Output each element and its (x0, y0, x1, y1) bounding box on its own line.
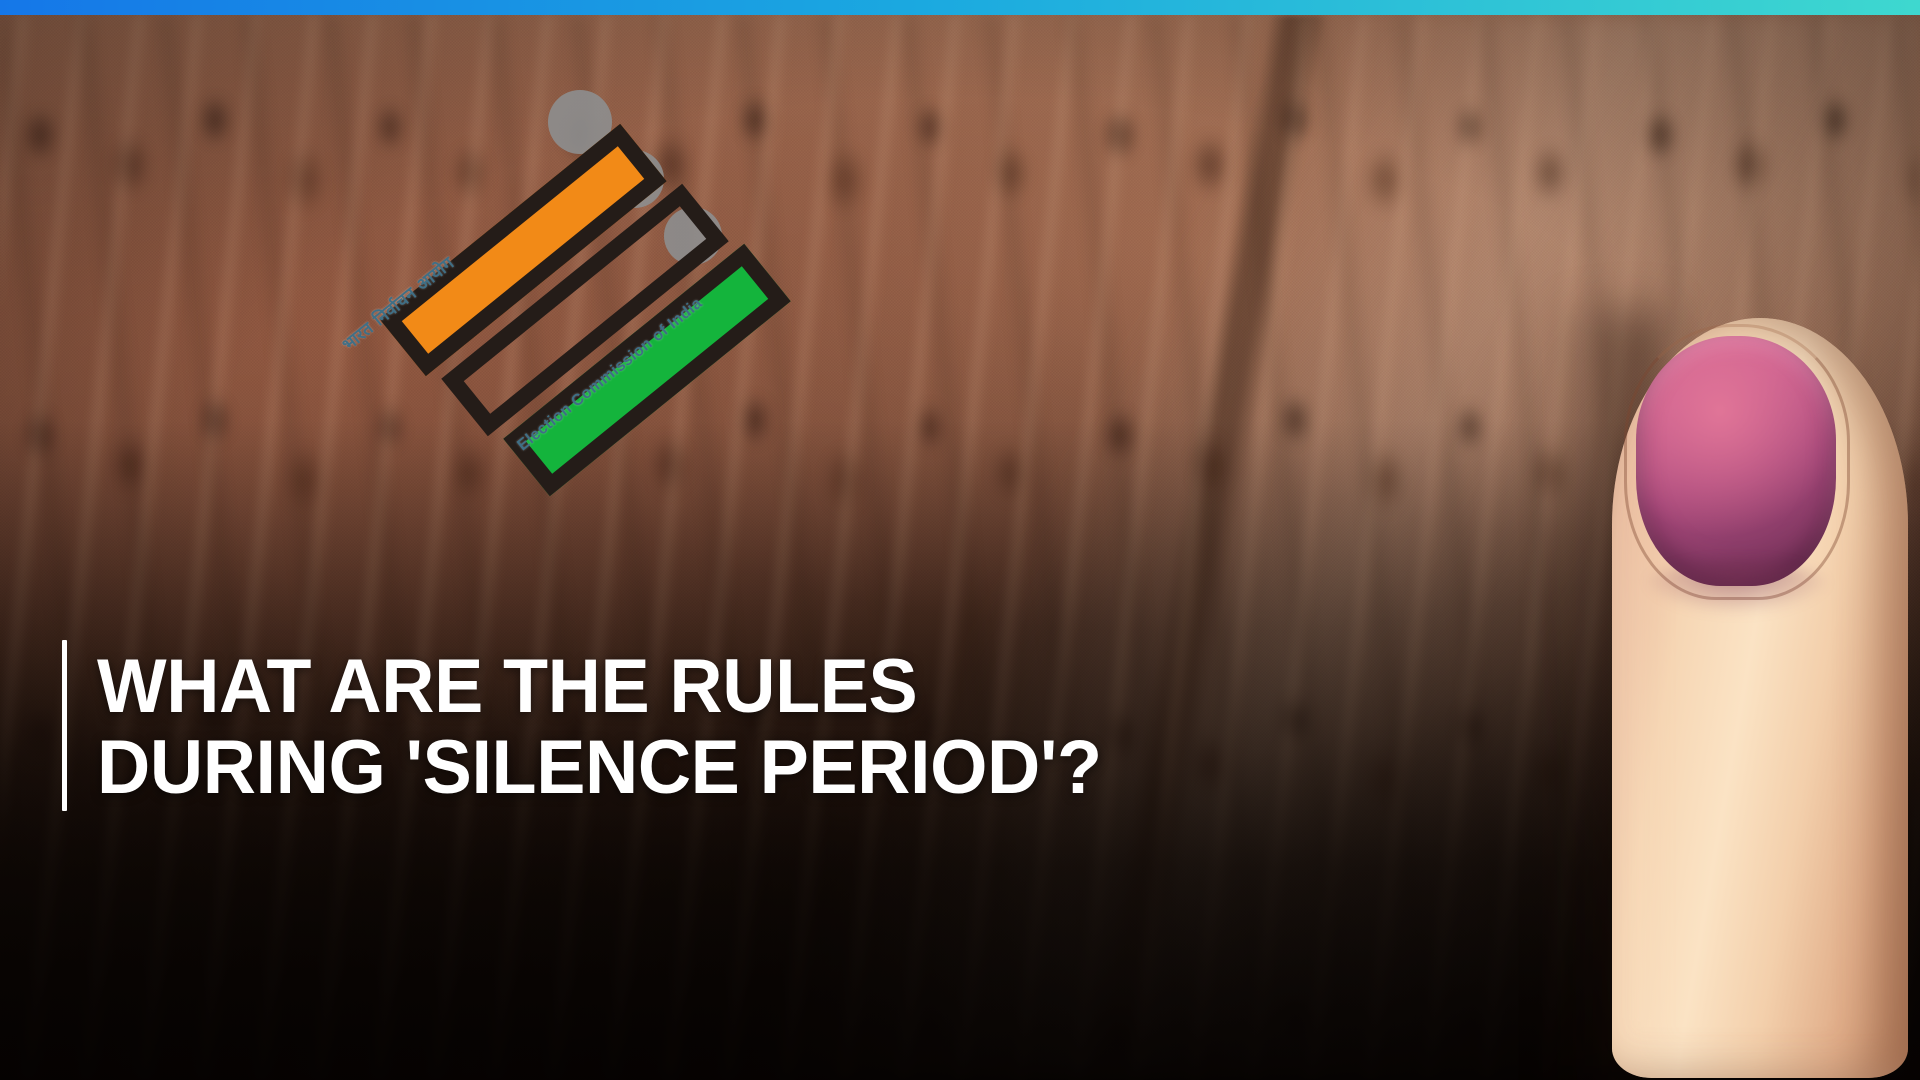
background-crowd-image (0, 15, 1920, 1080)
background-vignette (0, 15, 1920, 1080)
top-accent-bar (0, 0, 1920, 15)
headline-text-group: WHAT ARE THE RULES DURING 'SILENCE PERIO… (97, 640, 1133, 811)
graphic-canvas: भारत निर्वाचन आयोग Election Commission o… (0, 0, 1920, 1080)
headline-line-2: DURING 'SILENCE PERIOD'? (97, 727, 1102, 808)
headline-accent-rule (62, 640, 67, 811)
headline-block: WHAT ARE THE RULES DURING 'SILENCE PERIO… (62, 640, 1133, 811)
headline-line-1: WHAT ARE THE RULES (97, 646, 1102, 727)
